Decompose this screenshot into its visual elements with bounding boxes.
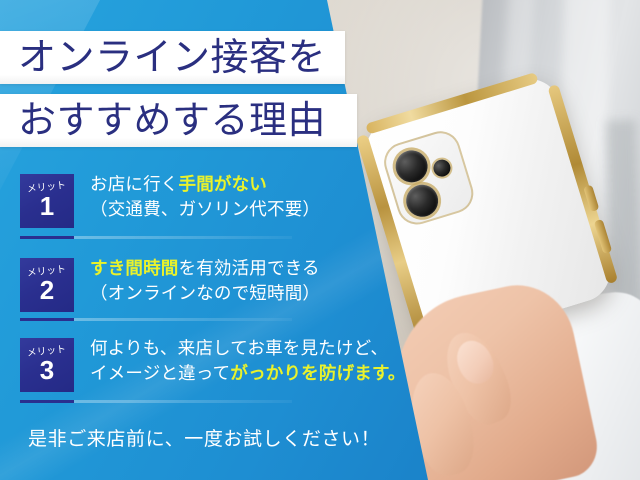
merit-badge-3: メリット 3 (20, 338, 74, 392)
merit-2-line-2: （オンラインなので短時間） (90, 281, 320, 306)
merit-divider-1 (20, 236, 292, 239)
merit-badge-label: メリット (27, 345, 67, 359)
camera-lens (402, 181, 442, 221)
merit-divider-2 (20, 318, 292, 321)
merit-1-plain-a: お店に行く (90, 174, 179, 194)
merit-badge-number: 2 (40, 277, 54, 303)
merit-badge-number: 1 (40, 193, 54, 219)
headline-line-1: オンライン接客を (0, 39, 326, 77)
merit-1-highlight: 手間がない (179, 174, 268, 194)
merit-badge-label: メリット (27, 265, 67, 279)
merit-3-highlight: がっかりを防げます。 (230, 363, 405, 383)
divider-blue-segment (74, 318, 292, 321)
divider-blue-segment (74, 400, 292, 403)
merit-row-3: メリット 3 何よりも、来店してお車を見たけど、 イメージと違ってがっかりを防げ… (20, 336, 406, 392)
divider-navy-segment (20, 318, 74, 321)
footer-call-to-action: 是非ご来店前に、一度お試しください！ (28, 424, 380, 451)
merit-text-3: 何よりも、来店してお車を見たけど、 イメージと違ってがっかりを防げます。 (90, 336, 406, 386)
merit-2-plain-b: を有効活用できる (179, 258, 320, 278)
promotional-banner: オンライン接客を おすすめする理由 メリット 1 お店に行く手間がない （交通費… (0, 0, 640, 480)
divider-blue-segment (74, 236, 292, 239)
merit-text-2: すき間時間を有効活用できる （オンラインなので短時間） (90, 256, 320, 306)
merit-2-line-1: すき間時間を有効活用できる (90, 256, 320, 281)
merit-badge-2: メリット 2 (20, 258, 74, 312)
merit-1-line-1: お店に行く手間がない (90, 172, 320, 197)
headline-line-2: おすすめする理由 (0, 102, 326, 140)
merit-badge-number: 3 (40, 357, 54, 383)
divider-navy-segment (20, 400, 74, 403)
merit-2-highlight: すき間時間 (90, 258, 179, 278)
merit-badge-1: メリット 1 (20, 174, 74, 228)
merit-3-plain-a: イメージと違って (90, 363, 230, 383)
merit-badge-label: メリット (27, 181, 67, 195)
merit-divider-3 (20, 400, 292, 403)
merit-row-2: メリット 2 すき間時間を有効活用できる （オンラインなので短時間） (20, 256, 320, 312)
divider-navy-segment (20, 236, 74, 239)
merit-1-line-2: （交通費、ガソリン代不要） (90, 197, 320, 222)
merit-3-line-2: イメージと違ってがっかりを防げます。 (90, 361, 406, 386)
merit-row-1: メリット 1 お店に行く手間がない （交通費、ガソリン代不要） (20, 172, 320, 228)
merit-text-1: お店に行く手間がない （交通費、ガソリン代不要） (90, 172, 320, 222)
headline-band-1: オンライン接客を (0, 31, 345, 84)
camera-lens (392, 146, 432, 186)
camera-flash (431, 157, 452, 178)
headline-band-2: おすすめする理由 (0, 94, 357, 147)
merit-3-line-1: 何よりも、来店してお車を見たけど、 (90, 336, 406, 361)
